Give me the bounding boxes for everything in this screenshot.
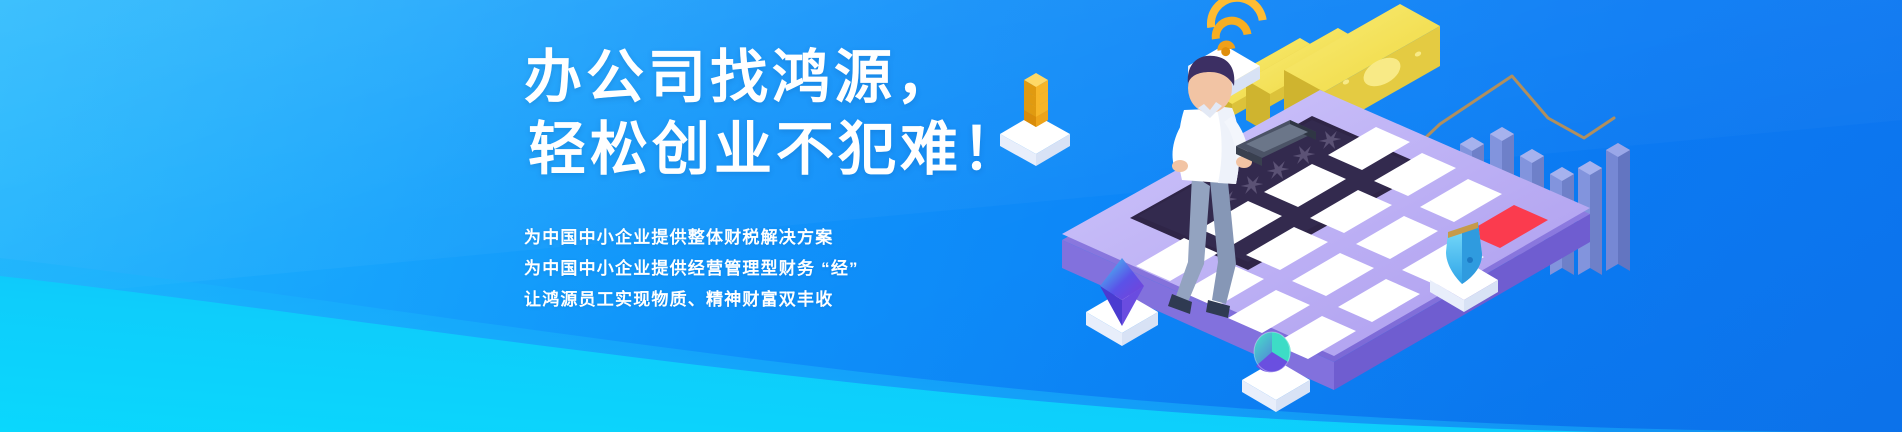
- banner-copy: 办公司找鸿源， 轻松创业不犯难！ 为中国中小企业提供整体财税解决方案 为中国中小…: [524, 42, 994, 315]
- subtitle-line-3: 让鸿源员工实现物质、精神财富双丰收: [524, 284, 994, 315]
- subtitle-block: 为中国中小企业提供整体财税解决方案 为中国中小企业提供经营管理型财务 “经” 让…: [524, 222, 994, 315]
- hand: [1172, 160, 1188, 172]
- headline: 办公司找鸿源， 轻松创业不犯难！: [524, 42, 994, 186]
- headline-line-2: 轻松创业不犯难！: [524, 114, 994, 186]
- illustration: [960, 0, 1720, 432]
- headline-line-1: 办公司找鸿源，: [524, 42, 994, 114]
- isometric-finance-scene: [960, 0, 1720, 432]
- hero-banner: 办公司找鸿源， 轻松创业不犯难！ 为中国中小企业提供整体财税解决方案 为中国中小…: [0, 0, 1902, 432]
- subtitle-line-1: 为中国中小企业提供整体财税解决方案: [524, 222, 994, 253]
- subtitle-line-2: 为中国中小企业提供经营管理型财务 “经”: [524, 253, 994, 284]
- gold-coins-icon: [1000, 73, 1070, 166]
